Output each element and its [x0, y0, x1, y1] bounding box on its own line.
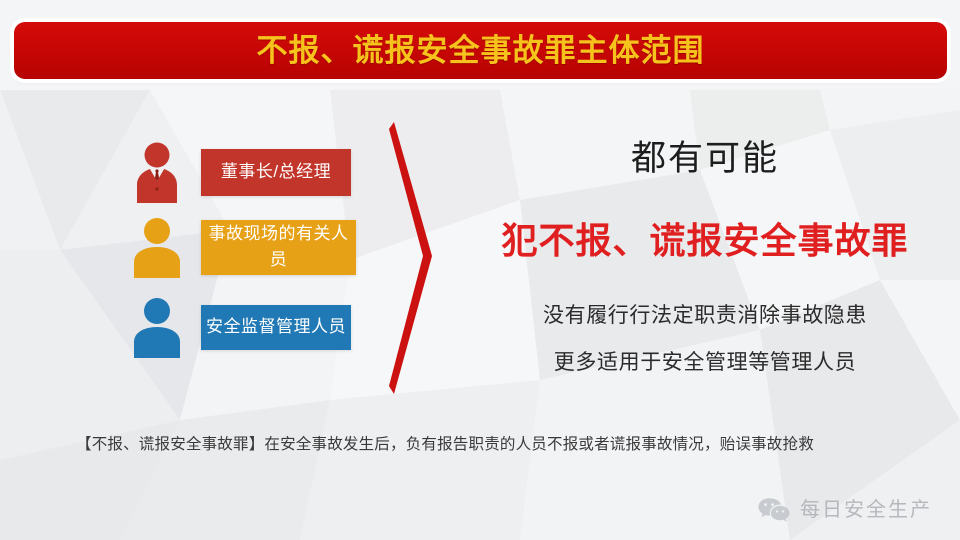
- headline-crime: 犯不报、谎报安全事故罪: [470, 221, 940, 261]
- person-icon: [127, 296, 187, 358]
- person-icon: [127, 216, 187, 278]
- businessman-suit-icon: [127, 141, 187, 203]
- page-title: 不报、谎报安全事故罪主体范围: [257, 35, 705, 66]
- footnote-definition: 【不报、谎报安全事故罪】在安全事故发生后，负有报告职责的人员不报或者谎报事故情况…: [76, 428, 906, 461]
- sub-line-duty: 没有履行行法定职责消除事故隐患: [470, 305, 940, 326]
- sub-line-applicability: 更多适用于安全管理等管理人员: [470, 352, 940, 373]
- watermark: 每日安全生产: [757, 496, 932, 524]
- headline-possible: 都有可能: [470, 140, 940, 179]
- slide-canvas: 不报、谎报安全事故罪主体范围 董事长/总经理 事故现场的有关人员 安全监督管理人…: [0, 0, 960, 540]
- right-text-block: 都有可能 犯不报、谎报安全事故罪 没有履行行法定职责消除事故隐患 更多适用于安全…: [470, 140, 940, 373]
- chevron-right-arrow-icon: [378, 118, 450, 398]
- wechat-icon: [757, 496, 791, 524]
- role-row-chairman: 董事长/总经理: [127, 141, 351, 203]
- watermark-text: 每日安全生产: [800, 500, 932, 520]
- role-label-safety-supervisor: 安全监督管理人员: [201, 305, 351, 350]
- role-row-safety-supervisor: 安全监督管理人员: [127, 296, 351, 358]
- role-label-site-personnel: 事故现场的有关人员: [201, 220, 356, 275]
- slide-title-banner: 不报、谎报安全事故罪主体范围: [14, 22, 947, 79]
- role-label-chairman: 董事长/总经理: [201, 149, 351, 196]
- role-row-site-personnel: 事故现场的有关人员: [127, 216, 356, 278]
